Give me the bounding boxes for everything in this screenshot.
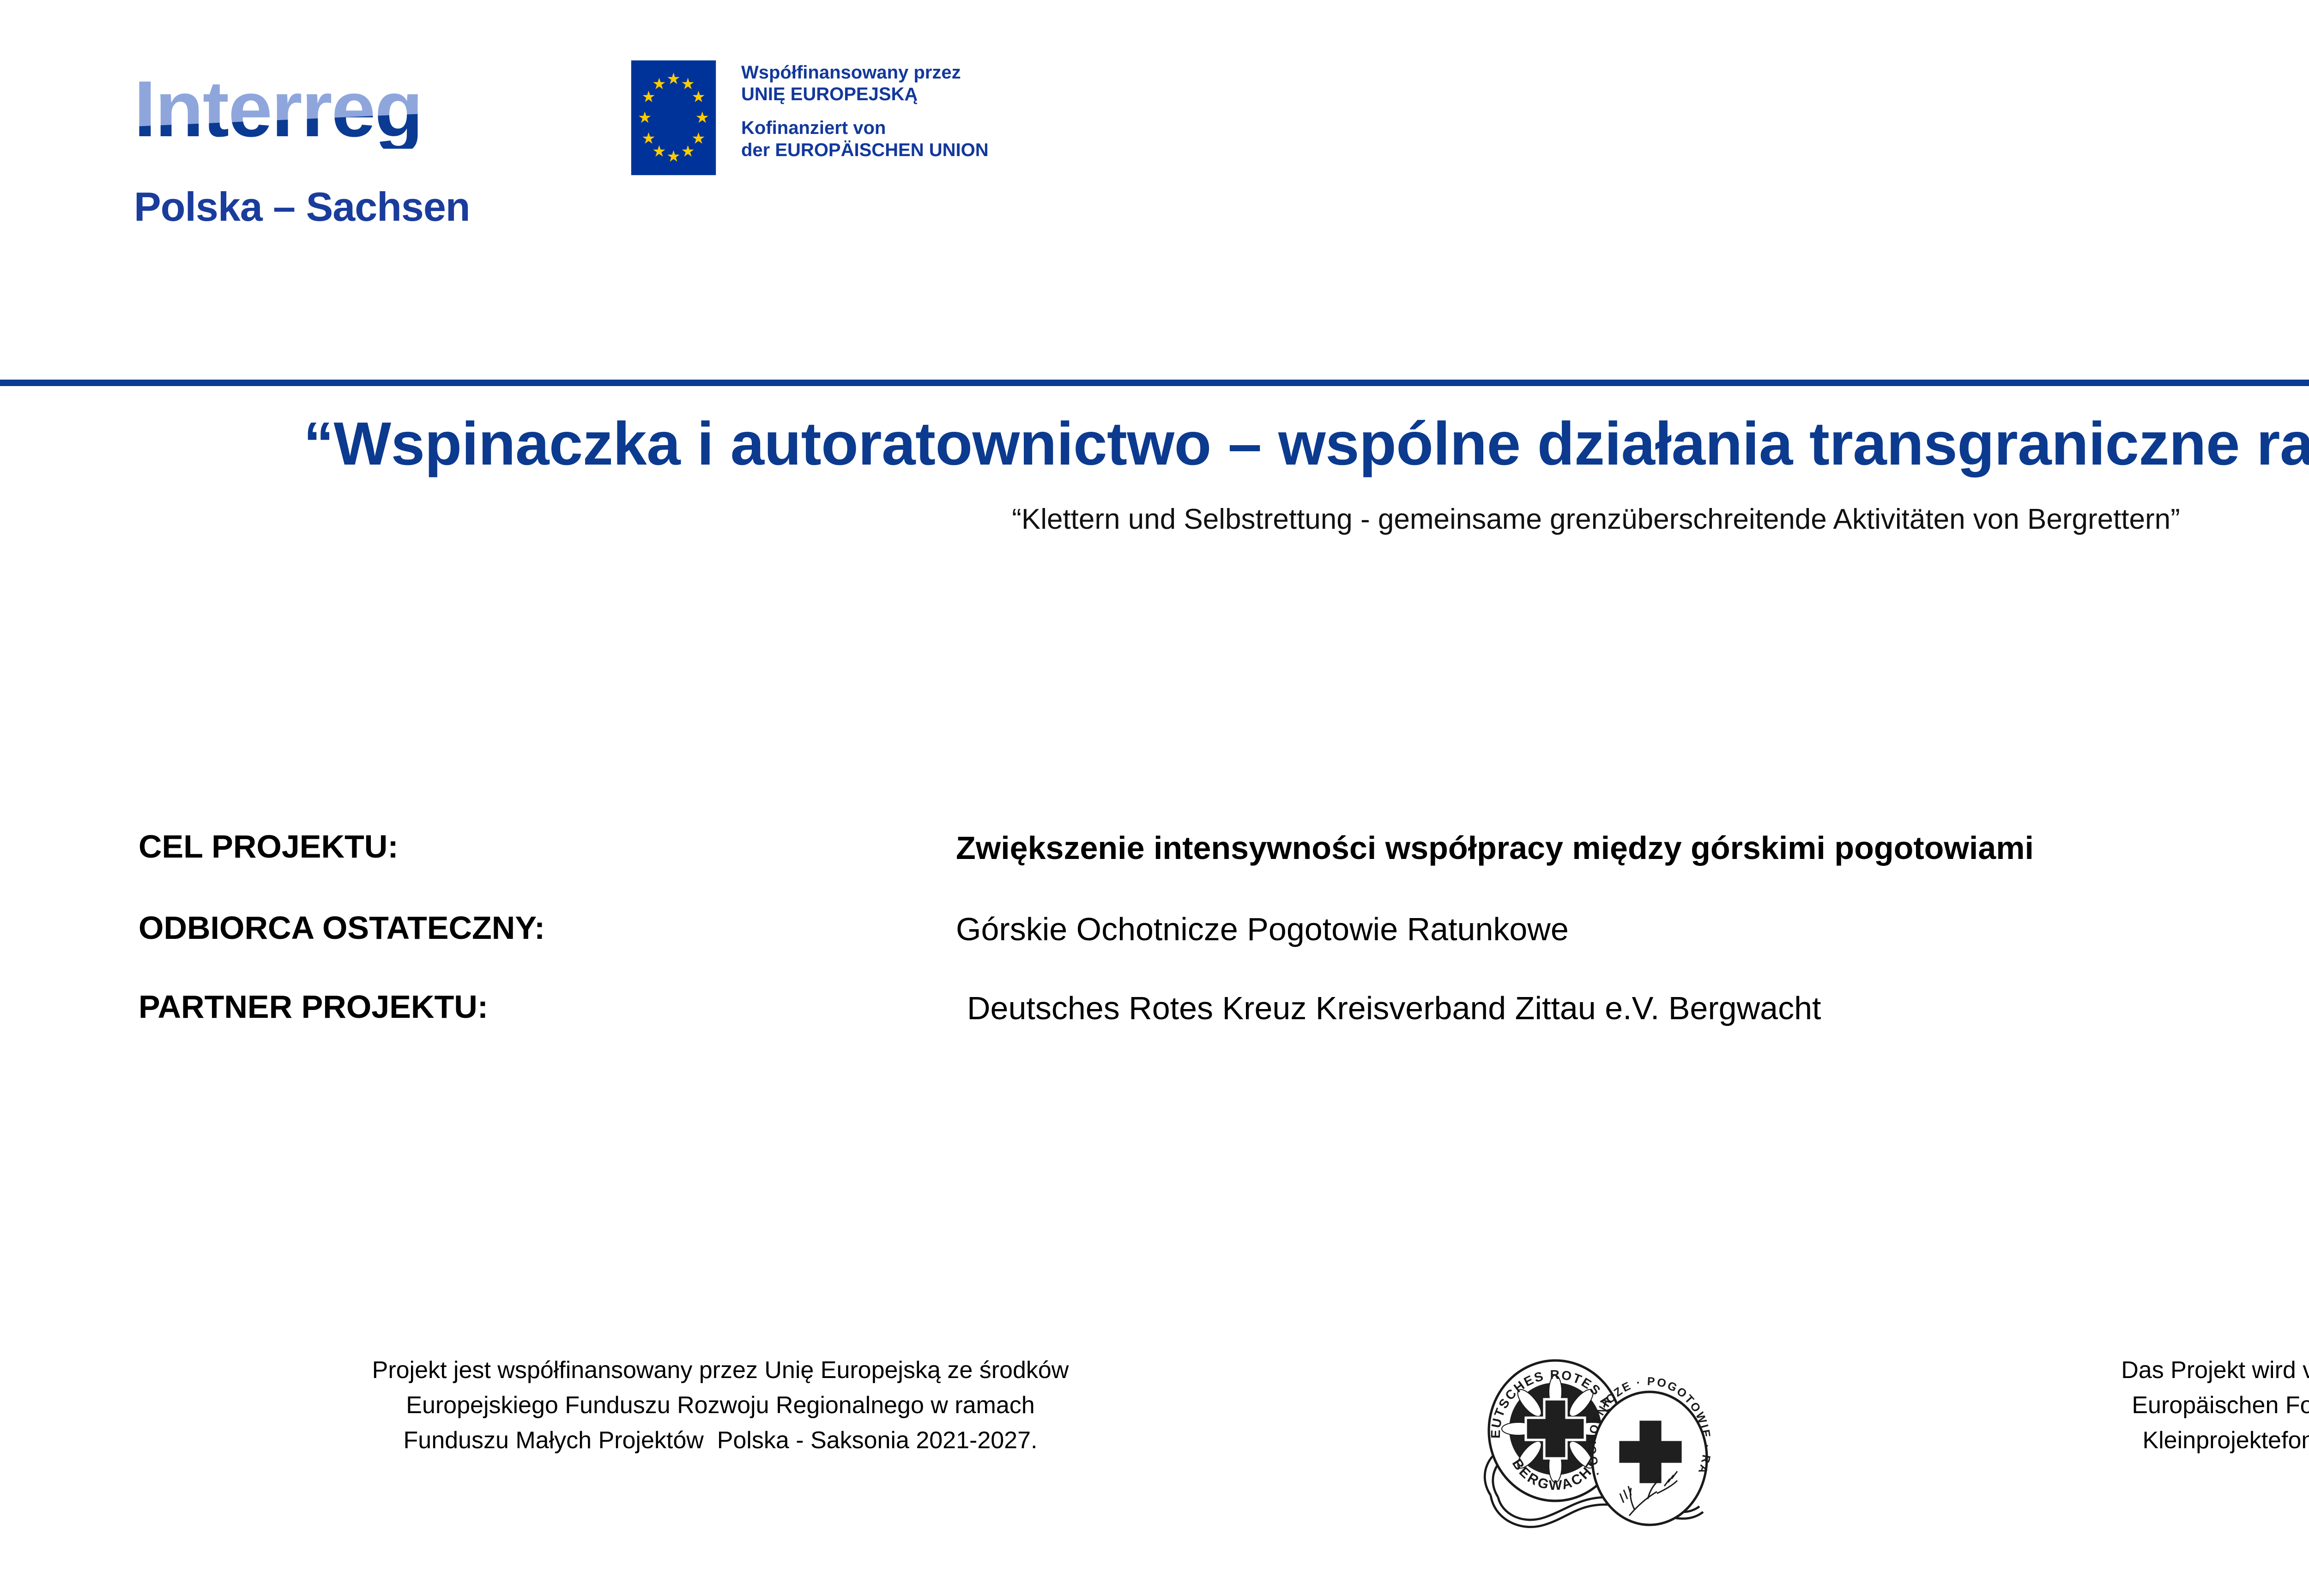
- page-title: “Wspinaczka i autoratownictwo – wspólne …: [234, 406, 2309, 481]
- detail-row: PARTNER PROJEKTU: Deutsches Rotes Kreuz …: [0, 987, 2309, 1029]
- interreg-logo: Interreg Interreg Polska – Sachsen: [134, 69, 596, 230]
- eu-text-de-2: der EUROPÄISCHEN UNION: [741, 139, 989, 161]
- detail-row: ODBIORCA OSTATECZNY: Górskie Ochotnicze …: [0, 908, 2309, 950]
- detail-value-recipient: Górskie Ochotnicze Pogotowie Ratunkowe: [956, 908, 2309, 950]
- detail-label-partner: PARTNER PROJEKTU:: [139, 987, 956, 1028]
- eu-text-de-1: Kofinanziert von: [741, 117, 989, 139]
- eu-star: ★: [651, 76, 667, 92]
- page-footer: Projekt jest współfinansowany przez Unię…: [0, 1353, 2309, 1552]
- title-area: “Wspinaczka i autoratownictwo – wspólne …: [0, 406, 2309, 538]
- eu-emblem-text: Współfinansowany przez UNIĘ EUROPEJSKĄ K…: [741, 60, 989, 161]
- footer-de-line-2: Europäischen Fonds für Regionale Entwick…: [1834, 1388, 2309, 1423]
- footer-text-polish: Projekt jest współfinansowany przez Unię…: [83, 1353, 1358, 1458]
- interreg-wordmark: Interreg Interreg: [134, 69, 422, 149]
- interreg-wordmark-light: Interreg: [134, 69, 422, 149]
- detail-value-goal: Zwiększenie intensywności współpracy mię…: [956, 827, 2309, 869]
- eu-star: ★: [695, 110, 710, 126]
- eu-flag-icon: ★ ★ ★ ★ ★ ★ ★ ★ ★ ★ ★ ★: [631, 60, 716, 175]
- eu-star: ★: [680, 144, 696, 159]
- eu-star: ★: [641, 131, 657, 146]
- interreg-programme-label: Polska – Sachsen: [134, 183, 596, 230]
- footer-pl-line-3: Funduszu Małych Projektów Polska - Sakso…: [83, 1423, 1358, 1458]
- footer-pl-line-1: Projekt jest współfinansowany przez Unię…: [83, 1353, 1358, 1388]
- eu-text-gap: [741, 105, 989, 117]
- footer-de-line-3: Kleinprojektefonds Polen - Sachsen 20217…: [1834, 1423, 2309, 1458]
- eu-star: ★: [690, 89, 706, 105]
- detail-value-partner: Deutsches Rotes Kreuz Kreisverband Zitta…: [956, 987, 2309, 1029]
- footer-text-german: Das Projekt wird von den Europäischen Un…: [1834, 1353, 2309, 1458]
- detail-label-recipient: ODBIORCA OSTATECZNY:: [139, 908, 956, 949]
- eu-star: ★: [666, 149, 682, 164]
- page-header: Interreg Interreg Polska – Sachsen ★ ★ ★…: [0, 0, 2309, 382]
- detail-row: CEL PROJEKTU: Zwiększenie intensywności …: [0, 827, 2309, 869]
- footer-emblem: DEUTSCHES ROTES KREUZ BERGWACHT: [1457, 1353, 1735, 1551]
- project-details: CEL PROJEKTU: Zwiększenie intensywności …: [0, 827, 2309, 1072]
- bergwacht-gopr-emblem-icon: DEUTSCHES ROTES KREUZ BERGWACHT: [1467, 1357, 1725, 1551]
- detail-label-goal: CEL PROJEKTU:: [139, 827, 956, 867]
- eu-star: ★: [666, 71, 682, 87]
- footer-de-line-1: Das Projekt wird von den Europäischen Un…: [1834, 1353, 2309, 1388]
- footer-pl-line-2: Europejskiego Funduszu Rozwoju Regionaln…: [83, 1388, 1358, 1423]
- eu-emblem: ★ ★ ★ ★ ★ ★ ★ ★ ★ ★ ★ ★ Współfinansowany…: [631, 60, 989, 175]
- eu-star: ★: [637, 110, 653, 126]
- page-subtitle: “Klettern und Selbstrettung - gemeinsame…: [0, 501, 2309, 538]
- eu-text-pl-1: Współfinansowany przez: [741, 62, 989, 84]
- header-divider: [0, 380, 2309, 386]
- eu-text-pl-2: UNIĘ EUROPEJSKĄ: [741, 84, 989, 105]
